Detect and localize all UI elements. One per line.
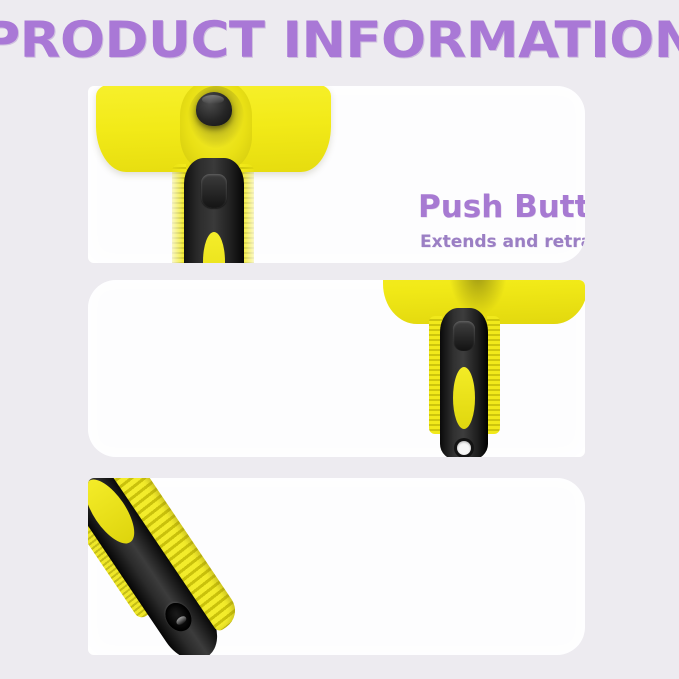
panel-line-2: bristles <box>420 260 585 263</box>
page-title: PRODUCT INFORMATION <box>0 14 679 66</box>
panel-eyehole: Eyehole Easy to carry and hang to store <box>88 478 585 655</box>
eyehole-icon <box>457 441 471 455</box>
handle-grip <box>184 158 244 263</box>
product-image-nonslip-handle <box>88 280 585 457</box>
product-image-eyehole <box>88 478 585 655</box>
panel-nonslip-handle: Nonslip Handle Ergonomic design comforta… <box>88 280 585 457</box>
handle-tail <box>88 478 240 655</box>
panel-push-button: Push Button Extends and retracts bristle… <box>88 86 585 263</box>
grip-insert <box>453 367 475 429</box>
push-button-knob-icon <box>196 92 232 126</box>
bristle-row-right-icon <box>487 316 500 434</box>
product-information-infographic: PRODUCT INFORMATION Push Button Extends … <box>0 0 679 679</box>
panel-text-push-button: Push Button Extends and retracts bristle… <box>418 190 585 263</box>
panel-heading: Push Button <box>418 190 585 224</box>
panel-line-1: Extends and retracts <box>420 224 585 260</box>
grip-insert <box>203 232 225 263</box>
button-slot-icon <box>453 321 475 351</box>
handle-grip <box>440 308 488 457</box>
button-slot-icon <box>201 174 227 208</box>
